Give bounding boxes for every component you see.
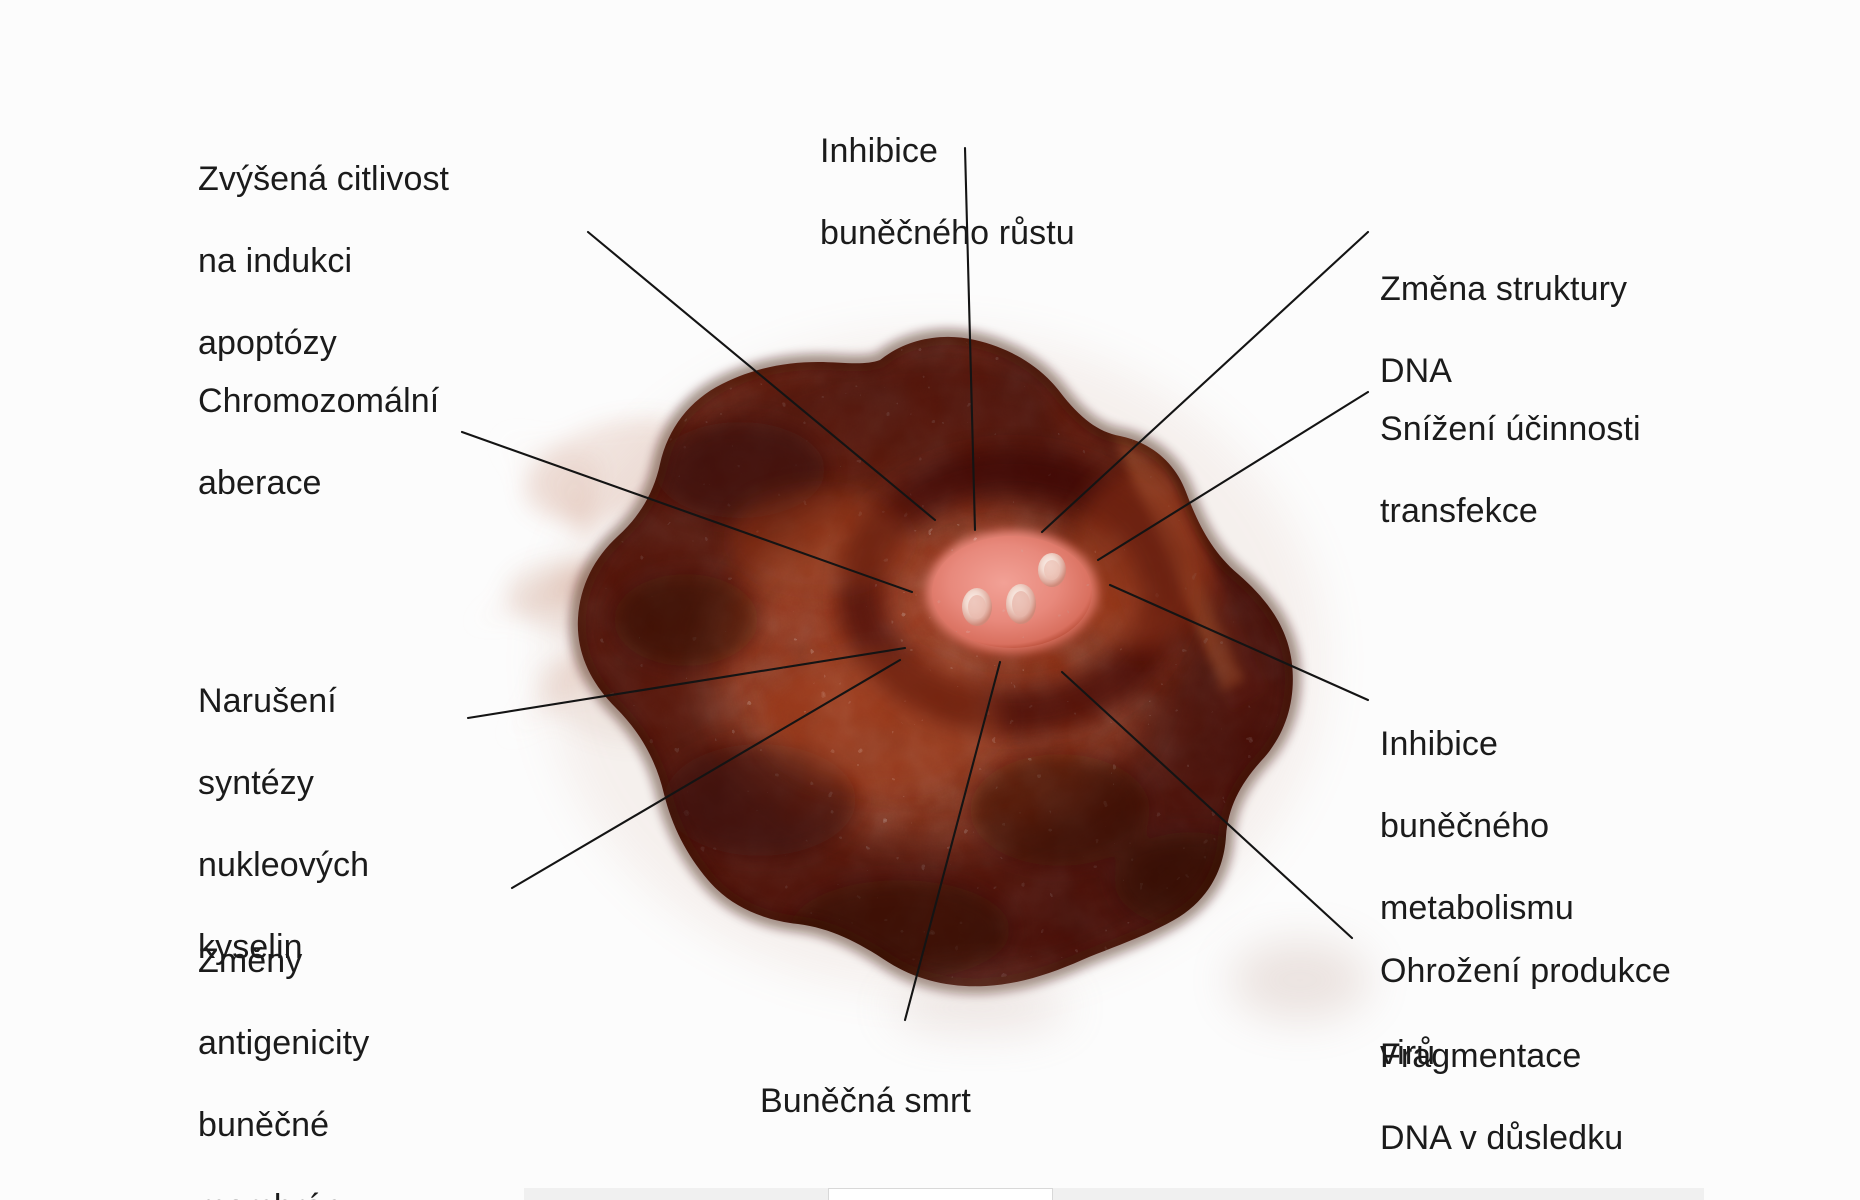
label-line: Narušení — [198, 681, 498, 722]
label-line: buněčného — [1380, 806, 1780, 847]
label-line: aberace — [198, 463, 558, 504]
cell-body — [520, 300, 1360, 1040]
label-chromozomalni-aberace: Chromozomální aberace — [198, 340, 558, 545]
page-footer-box — [828, 1188, 1053, 1200]
label-fragmentace-dna: Fragmentace DNA v důsledku mykoplazmatic… — [1380, 995, 1820, 1200]
label-line: Změny — [198, 941, 498, 982]
label-line: Změna struktury — [1380, 269, 1780, 310]
label-line: DNA v důsledku — [1380, 1118, 1820, 1159]
label-line: Chromozomální — [198, 381, 558, 422]
label-zmeny-antigenicity: Změny antigenicity buněčné membrány — [198, 900, 498, 1200]
page-footer-strip — [524, 1188, 1704, 1200]
label-inhibice-bunecneho-rustu: Inhibice buněčného růstu — [820, 90, 1220, 295]
label-line: Inhibice — [820, 131, 1220, 172]
label-bunecna-smrt: Buněčná smrt — [760, 1040, 1100, 1163]
label-line: Snížení účinnosti — [1380, 409, 1780, 450]
cell-nucleus — [926, 530, 1098, 654]
label-line: Buněčná smrt — [760, 1081, 1100, 1122]
label-line: membrány — [198, 1187, 498, 1200]
figure-canvas: Zvýšená citlivost na indukci apoptózy Ch… — [0, 0, 1860, 1200]
label-line: na indukci — [198, 241, 558, 282]
label-line: nukleových — [198, 845, 498, 886]
label-line: syntézy — [198, 763, 498, 804]
label-line: Inhibice — [1380, 724, 1780, 765]
label-line: transfekce — [1380, 491, 1780, 532]
label-snizeni-ucinnosti-transfekce: Snížení účinnosti transfekce — [1380, 368, 1780, 573]
label-line: Ohrožení produkce — [1380, 951, 1800, 992]
label-line: Fragmentace — [1380, 1036, 1820, 1077]
label-line: buněčné — [198, 1105, 498, 1146]
label-line: Zvýšená citlivost — [198, 159, 558, 200]
label-line: antigenicity — [198, 1023, 498, 1064]
label-line: buněčného růstu — [820, 213, 1220, 254]
